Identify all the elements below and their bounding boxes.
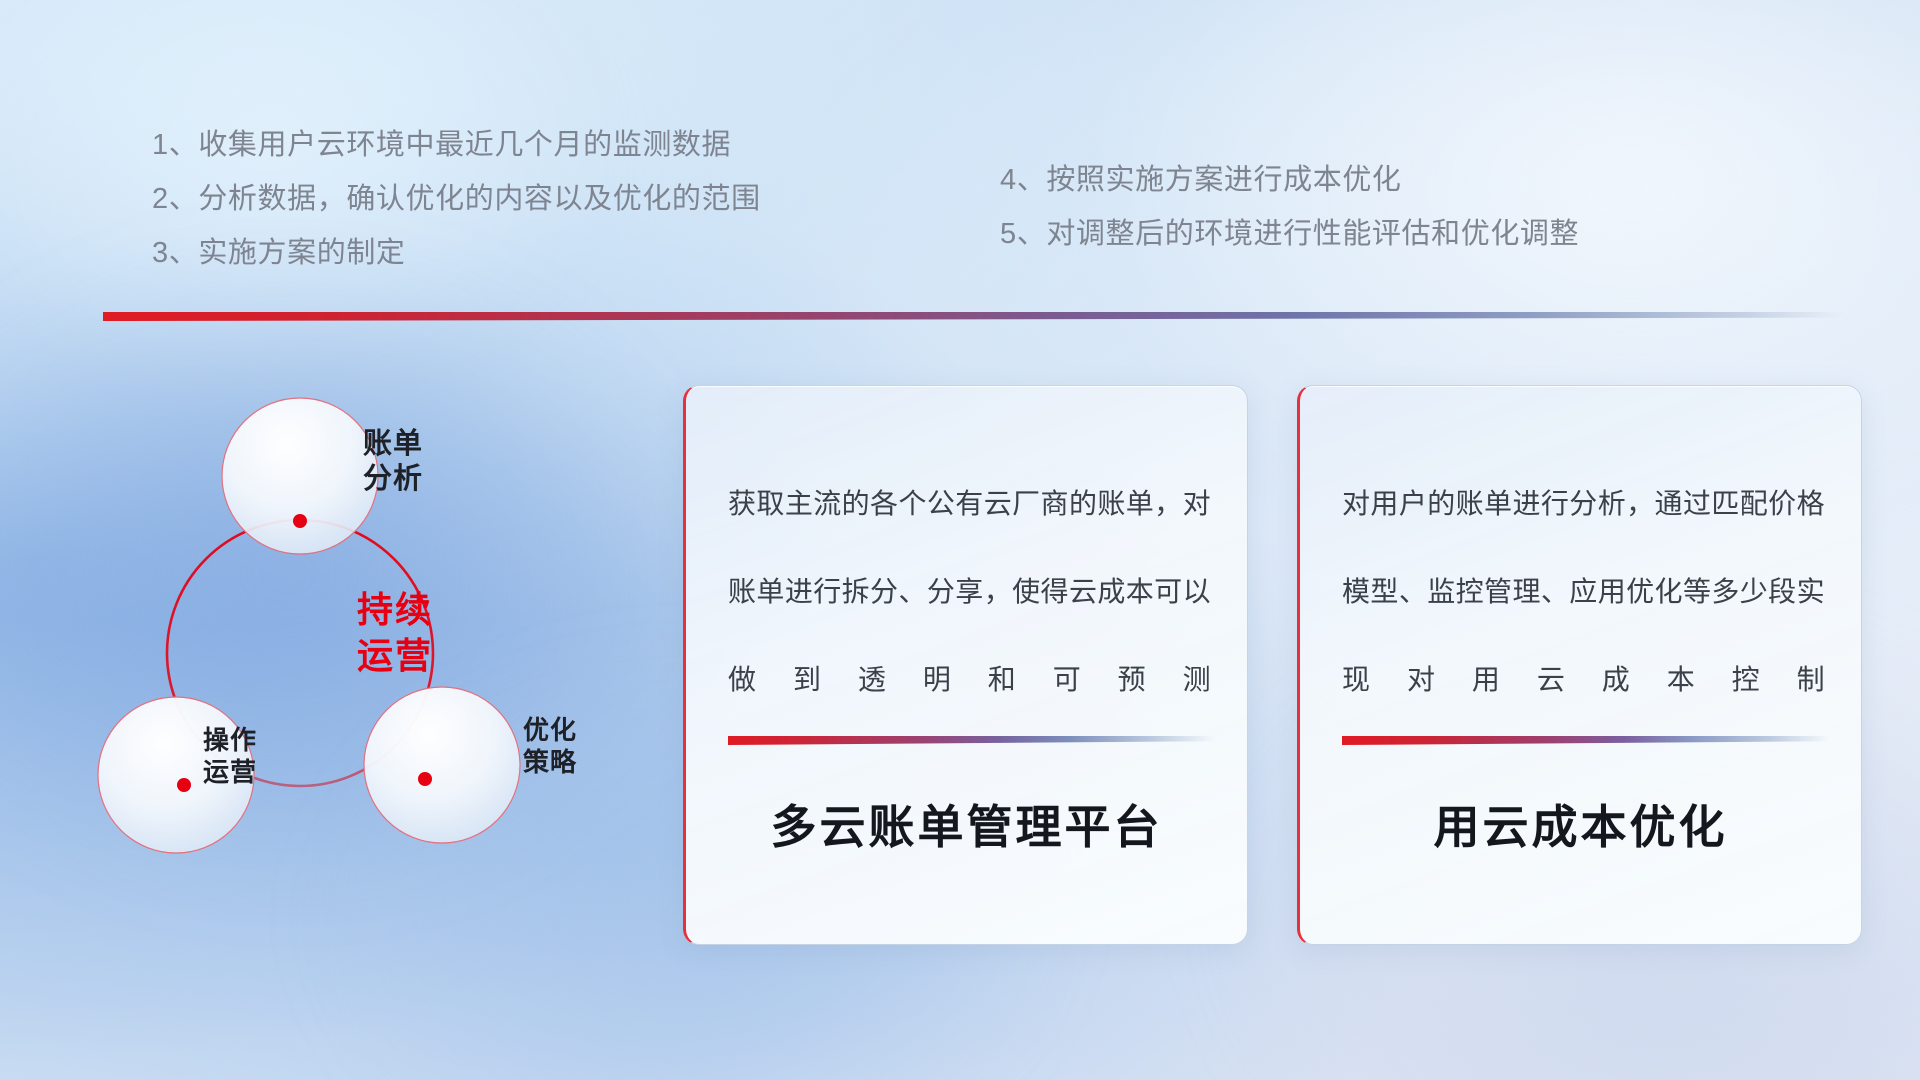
venn-label-left: 操作 运营 [155, 725, 305, 788]
steps-left-column: 1、收集用户云环境中最近几个月的监测数据 2、分析数据，确认优化的内容以及优化的… [152, 118, 761, 280]
card-body-text: 获取主流的各个公有云厂商的账单，对账单进行拆分、分享，使得云成本可以做到透明和可… [728, 460, 1211, 724]
venn-node-top [293, 514, 307, 528]
process-steps: 1、收集用户云环境中最近几个月的监测数据 2、分析数据，确认优化的内容以及优化的… [0, 0, 1920, 300]
venn-node-right [418, 772, 432, 786]
step-item-2: 2、分析数据，确认优化的内容以及优化的范围 [152, 172, 761, 226]
card-title: 用云成本优化 [1300, 791, 1861, 857]
venn-label-top: 账单 分析 [313, 427, 473, 498]
card-divider-rule [728, 736, 1215, 745]
step-item-1: 1、收集用户云环境中最近几个月的监测数据 [152, 118, 761, 172]
step-item-5: 5、对调整后的环境进行性能评估和优化调整 [1000, 207, 1579, 261]
card-body-text: 对用户的账单进行分析，通过匹配价格模型、监控管理、应用优化等多少段实现对用云成本… [1342, 460, 1825, 724]
card-title: 多云账单管理平台 [686, 791, 1247, 857]
info-card-cost-optimization[interactable]: 对用户的账单进行分析，通过匹配价格模型、监控管理、应用优化等多少段实现对用云成本… [1297, 385, 1862, 945]
step-item-3: 3、实施方案的制定 [152, 226, 761, 280]
info-card-multicloud-billing[interactable]: 获取主流的各个公有云厂商的账单，对账单进行拆分、分享，使得云成本可以做到透明和可… [683, 385, 1248, 945]
venn-diagram: 账单 分析 操作 运营 优化 策略 持续 运营 [95, 355, 645, 935]
card-divider-rule [1342, 736, 1829, 745]
venn-label-right: 优化 策略 [475, 715, 625, 778]
step-item-4: 4、按照实施方案进行成本优化 [1000, 153, 1579, 207]
steps-right-column: 4、按照实施方案进行成本优化 5、对调整后的环境进行性能评估和优化调整 [1000, 153, 1579, 261]
venn-label-center: 持续 运营 [310, 587, 480, 679]
